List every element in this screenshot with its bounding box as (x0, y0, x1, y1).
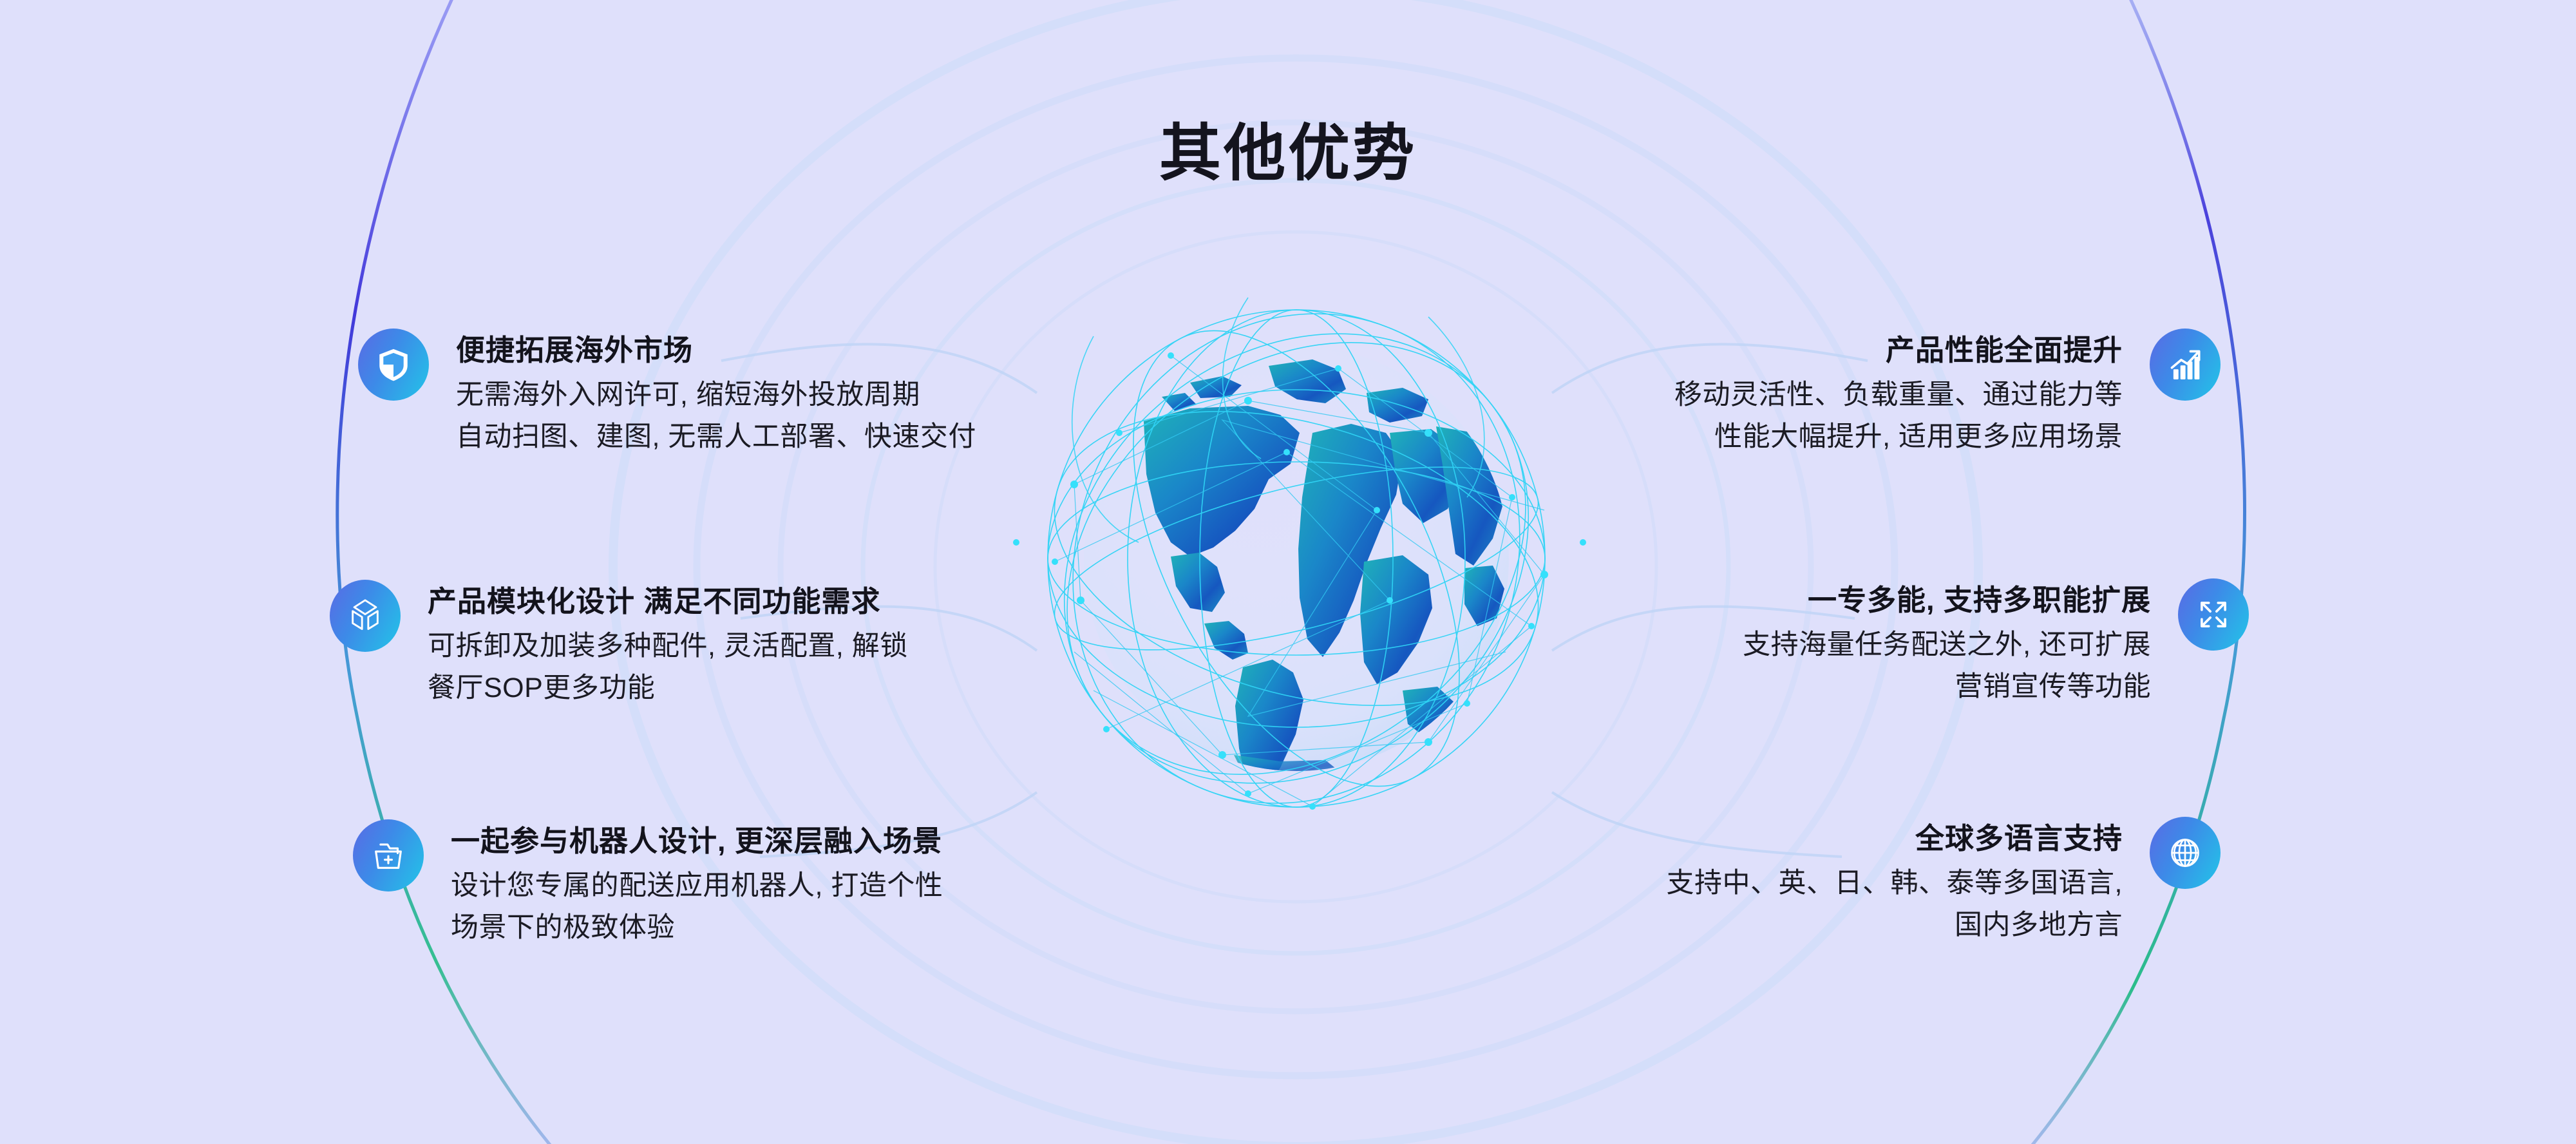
folder-plus-icon (353, 819, 424, 891)
globe-icon (2150, 817, 2221, 889)
feature-line: 移动灵活性、负载重量、通过能力等 (1674, 377, 2123, 414)
cube-icon (330, 580, 401, 652)
feature-line: 国内多地方言 (1667, 908, 2123, 944)
feature-heading: 便捷拓展海外市场 (456, 332, 976, 369)
feature-line: 营销宣传等功能 (1743, 669, 2151, 705)
feature-line: 性能大幅提升, 适用更多应用场景 (1674, 419, 2123, 455)
page-title: 其他优势 (0, 103, 2576, 193)
feature-heading: 产品模块化设计 满足不同功能需求 (428, 584, 908, 620)
feature-line: 设计您专属的配送应用机器人, 打造个性 (451, 868, 943, 904)
feature-heading: 一专多能, 支持多职能扩展 (1743, 582, 2151, 619)
feature-text-block: 产品性能全面提升 移动灵活性、负载重量、通过能力等 性能大幅提升, 适用更多应用… (1674, 329, 2123, 455)
feature-text-block: 产品模块化设计 满足不同功能需求 可拆卸及加装多种配件, 灵活配置, 解锁 餐厅… (428, 580, 908, 706)
feature-item-left-3[interactable]: 一起参与机器人设计, 更深层融入场景 设计您专属的配送应用机器人, 打造个性 场… (353, 819, 943, 946)
feature-item-right-3[interactable]: 全球多语言支持 支持中、英、日、韩、泰等多国语言, 国内多地方言 (1667, 817, 2221, 943)
shield-icon (358, 329, 429, 401)
feature-item-right-2[interactable]: 一专多能, 支持多职能扩展 支持海量任务配送之外, 还可扩展 营销宣传等功能 (1743, 578, 2249, 705)
feature-line: 场景下的极致体验 (451, 910, 943, 946)
feature-text-block: 便捷拓展海外市场 无需海外入网许可, 缩短海外投放周期 自动扫图、建图, 无需人… (456, 329, 976, 455)
feature-heading: 全球多语言支持 (1667, 821, 2123, 857)
feature-item-left-2[interactable]: 产品模块化设计 满足不同功能需求 可拆卸及加装多种配件, 灵活配置, 解锁 餐厅… (330, 580, 908, 706)
expand-arrows-icon (2178, 578, 2249, 651)
feature-item-left-1[interactable]: 便捷拓展海外市场 无需海外入网许可, 缩短海外投放周期 自动扫图、建图, 无需人… (358, 329, 976, 455)
feature-text-block: 一专多能, 支持多职能扩展 支持海量任务配送之外, 还可扩展 营销宣传等功能 (1743, 578, 2151, 705)
feature-line: 自动扫图、建图, 无需人工部署、快速交付 (456, 419, 976, 455)
feature-line: 支持中、英、日、韩、泰等多国语言, (1667, 866, 2123, 902)
feature-heading: 一起参与机器人设计, 更深层融入场景 (451, 823, 943, 860)
feature-text-block: 全球多语言支持 支持中、英、日、韩、泰等多国语言, 国内多地方言 (1667, 817, 2123, 943)
globe-network-illustration (978, 240, 1615, 877)
feature-line: 餐厅SOP更多功能 (428, 671, 908, 707)
growth-chart-icon (2150, 329, 2221, 401)
infographic-canvas: 其他优势 (0, 0, 2576, 1144)
feature-line: 支持海量任务配送之外, 还可扩展 (1743, 627, 2151, 663)
feature-text-block: 一起参与机器人设计, 更深层融入场景 设计您专属的配送应用机器人, 打造个性 场… (451, 819, 943, 946)
feature-item-right-1[interactable]: 产品性能全面提升 移动灵活性、负载重量、通过能力等 性能大幅提升, 适用更多应用… (1674, 329, 2221, 455)
feature-line: 可拆卸及加装多种配件, 灵活配置, 解锁 (428, 629, 908, 665)
feature-line: 无需海外入网许可, 缩短海外投放周期 (456, 377, 976, 414)
feature-heading: 产品性能全面提升 (1674, 332, 2123, 369)
